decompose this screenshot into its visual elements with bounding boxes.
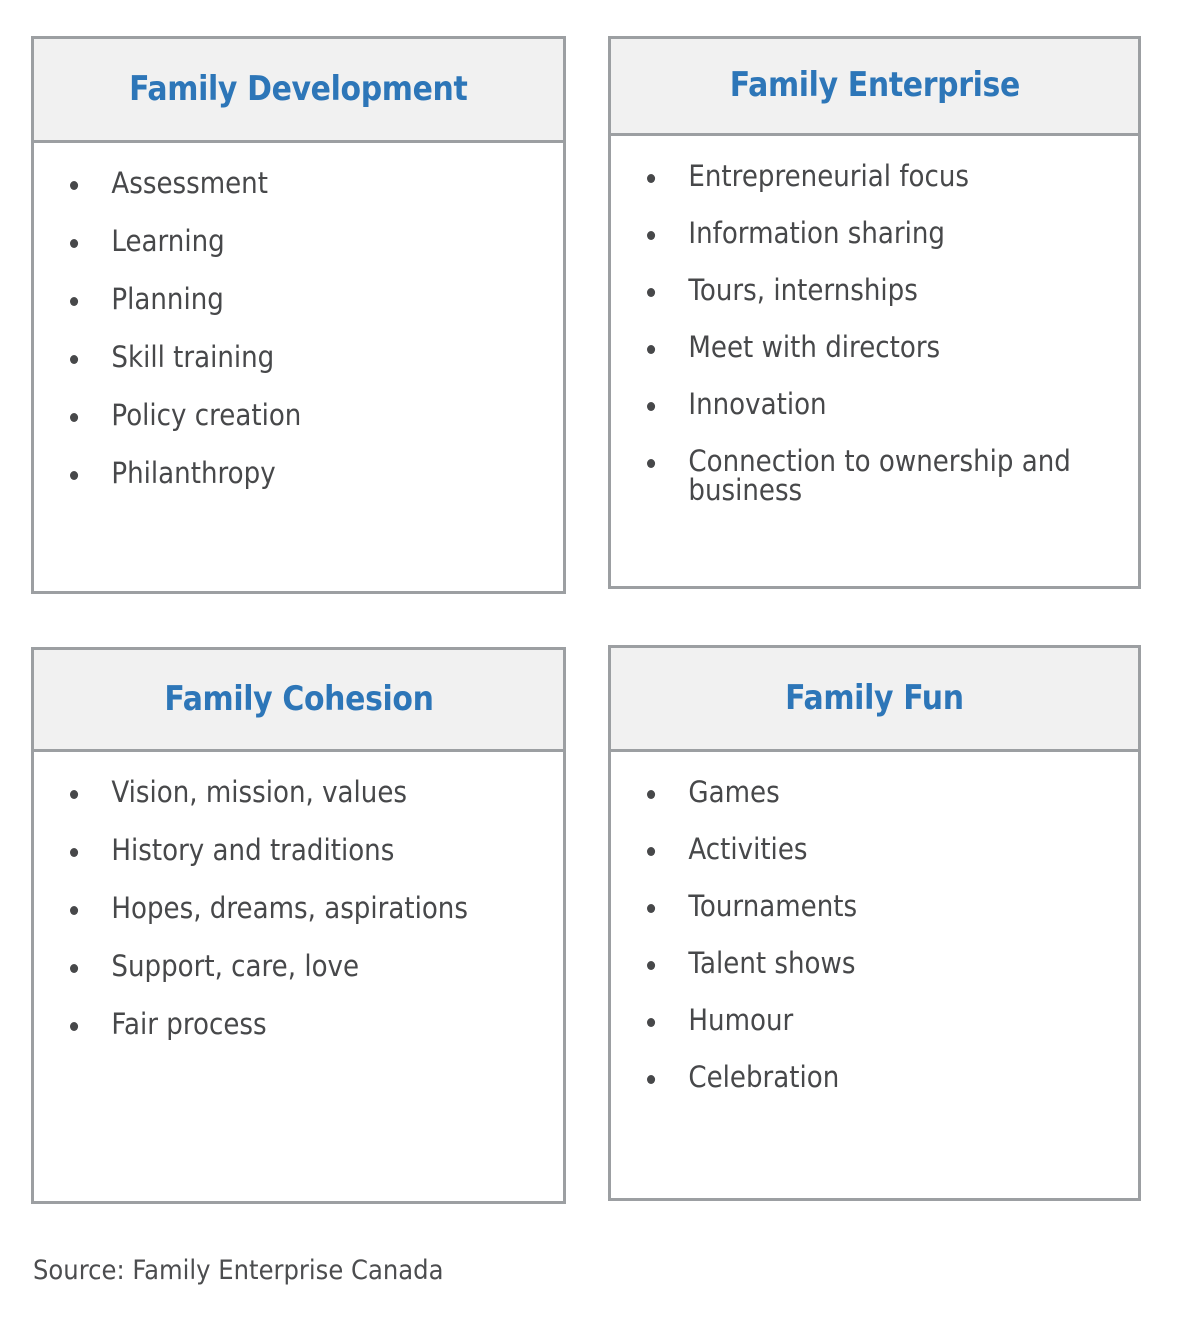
list-item: Humour [629,1006,1071,1035]
list-item: Tournaments [629,892,1071,921]
list-item: History and traditions [52,836,496,865]
panel-header-family-enterprise: Family Enterprise [611,39,1138,136]
panel-title-family-development: Family Development [129,71,467,108]
source-note: Source: Family Enterprise Canada [33,1255,443,1286]
list-item: Celebration [629,1063,1071,1092]
panel-body-family-development: Assessment Learning Planning Skill train… [34,143,563,498]
panel-family-development: Family Development Assessment Learning P… [31,36,566,594]
list-item: Hopes, dreams, aspirations [52,894,496,923]
list-item: Tours, internships [629,276,1071,305]
list-item: Games [629,778,1071,807]
list-item: Assessment [52,169,496,198]
list-item: Learning [52,227,496,256]
panel-family-cohesion: Family Cohesion Vision, mission, values … [31,647,566,1204]
list-item: Innovation [629,390,1071,419]
list-item: Philanthropy [52,459,496,488]
list-item: Fair process [52,1010,496,1039]
list-item: Talent shows [629,949,1071,978]
bullet-list-family-development: Assessment Learning Planning Skill train… [52,169,545,488]
panel-title-family-cohesion: Family Cohesion [164,681,433,718]
list-item: Activities [629,835,1071,864]
list-item: Entrepreneurial focus [629,162,1071,191]
panel-title-family-enterprise: Family Enterprise [729,67,1019,104]
quadrant-grid: Family Development Assessment Learning P… [0,0,1182,1332]
list-item: Meet with directors [629,333,1071,362]
panel-body-family-fun: Games Activities Tournaments Talent show… [611,752,1138,1130]
list-item: Policy creation [52,401,496,430]
panel-family-fun: Family Fun Games Activities Tournaments … [608,645,1141,1201]
list-item: Information sharing [629,219,1071,248]
panel-body-family-cohesion: Vision, mission, values History and trad… [34,752,563,1049]
list-item: Support, care, love [52,952,496,981]
bullet-list-family-cohesion: Vision, mission, values History and trad… [52,778,545,1039]
bullet-list-family-enterprise: Entrepreneurial focus Information sharin… [629,162,1120,505]
panel-header-family-cohesion: Family Cohesion [34,650,563,752]
panel-title-family-fun: Family Fun [785,680,964,717]
bullet-list-family-fun: Games Activities Tournaments Talent show… [629,778,1120,1092]
panel-header-family-development: Family Development [34,39,563,143]
panel-body-family-enterprise: Entrepreneurial focus Information sharin… [611,136,1138,543]
list-item: Skill training [52,343,496,372]
panel-header-family-fun: Family Fun [611,648,1138,752]
panel-family-enterprise: Family Enterprise Entrepreneurial focus … [608,36,1141,589]
list-item: Connection to ownership and business [629,447,1071,505]
list-item: Planning [52,285,496,314]
list-item: Vision, mission, values [52,778,496,807]
